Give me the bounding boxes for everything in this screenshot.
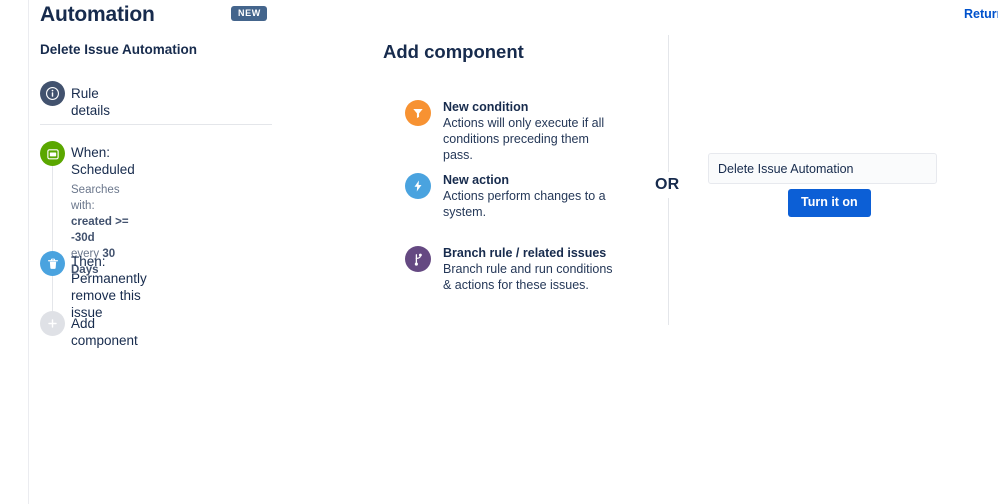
page-title: Automation (40, 3, 155, 27)
component-description: Actions perform changes to a system. (443, 188, 613, 220)
trash-icon (40, 251, 65, 276)
automation-page: Automation NEW Return Delete Issue Autom… (0, 0, 998, 504)
new-badge: NEW (231, 6, 267, 21)
branch-icon (405, 246, 431, 272)
rule-step-label: Then: Permanently remove this issue (71, 253, 147, 321)
or-label: OR (653, 172, 681, 198)
turn-it-on-button[interactable]: Turn it on (788, 189, 871, 217)
filter-icon (405, 100, 431, 126)
component-description: Actions will only execute if all conditi… (443, 115, 613, 163)
component-description: Branch rule and run conditions & actions… (443, 261, 621, 293)
rule-details-divider (40, 124, 272, 125)
plus-icon (40, 311, 65, 336)
return-link[interactable]: Return (964, 7, 998, 21)
searches-with-label: Searches with: (71, 182, 135, 214)
rule-step-label: Rule details (71, 85, 110, 119)
rule-name-heading: Delete Issue Automation (40, 42, 197, 57)
rule-step-label: Add component (71, 315, 138, 349)
jql-query-value: created >= -30d (71, 216, 129, 244)
component-title: Branch rule / related issues (443, 245, 621, 261)
info-circle-icon (40, 81, 65, 106)
step-connector-line (52, 150, 53, 325)
rule-name-input[interactable] (708, 153, 937, 184)
calendar-icon (40, 141, 65, 166)
lightning-bolt-icon (405, 173, 431, 199)
component-title: New action (443, 172, 613, 188)
add-component-heading: Add component (383, 41, 524, 63)
rule-step-label: When: Scheduled (71, 144, 135, 178)
component-title: New condition (443, 99, 613, 115)
left-edge-divider (28, 0, 29, 504)
